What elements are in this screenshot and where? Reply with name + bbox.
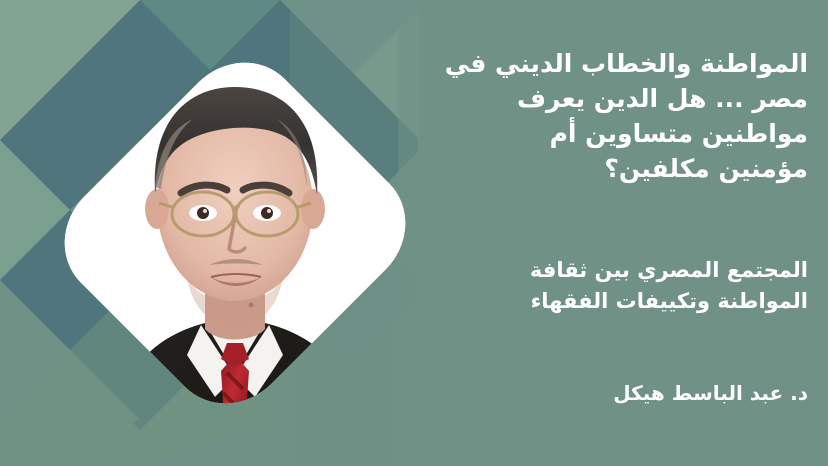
slide-canvas: المواطنة والخطاب الديني في مصر ... هل ال… xyxy=(0,0,828,466)
title-line: مواطنين متساوين أم xyxy=(416,116,808,151)
text-column: المواطنة والخطاب الديني في مصر ... هل ال… xyxy=(408,0,828,466)
speaker-name: د. عبد الباسط هيكل xyxy=(416,380,808,406)
subtitle-line: المواطنة وتكييفات الفقهاء xyxy=(416,286,808,317)
portrait-photo-clip xyxy=(40,38,431,429)
title-line: مصر ... هل الدين يعرف xyxy=(416,81,808,116)
lecture-title: المواطنة والخطاب الديني في مصر ... هل ال… xyxy=(416,46,808,186)
portrait-photo-image xyxy=(55,38,415,429)
speaker-portrait xyxy=(55,37,415,429)
title-line: المواطنة والخطاب الديني في xyxy=(416,46,808,81)
lecture-subtitle: المجتمع المصري بين ثقافة المواطنة وتكييف… xyxy=(416,255,808,317)
subtitle-line: المجتمع المصري بين ثقافة xyxy=(416,255,808,286)
title-line: مؤمنين مكلفين؟ xyxy=(416,151,808,186)
